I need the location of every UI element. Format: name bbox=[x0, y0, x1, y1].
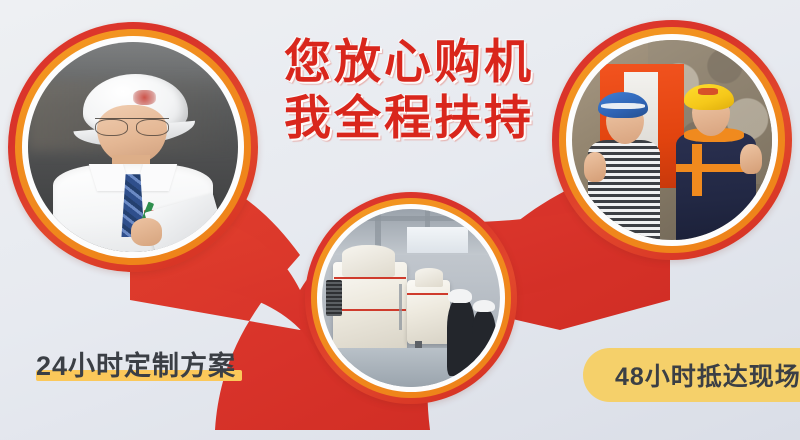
headline-line-1: 您放心购机 bbox=[284, 34, 554, 90]
engineer-photo bbox=[28, 42, 238, 252]
photo-circle-engineer bbox=[8, 22, 258, 272]
promo-banner: 您放心购机 我全程扶持 24小时定制方案 48小时抵达现场 bbox=[0, 0, 800, 440]
factory-photo bbox=[322, 209, 500, 387]
service-label-48h-text: 48小时抵达现场 bbox=[583, 357, 800, 393]
service-label-24h: 24小时定制方案 bbox=[36, 344, 236, 383]
headline: 您放心购机 我全程扶持 bbox=[284, 34, 554, 146]
photo-circle-factory bbox=[305, 192, 517, 404]
service-label-48h: 48小时抵达现场 bbox=[583, 348, 800, 402]
photo-circle-workers bbox=[552, 20, 792, 260]
workers-photo bbox=[572, 40, 772, 240]
service-label-24h-text: 24小时定制方案 bbox=[36, 344, 236, 383]
headline-line-2: 我全程扶持 bbox=[284, 90, 554, 146]
